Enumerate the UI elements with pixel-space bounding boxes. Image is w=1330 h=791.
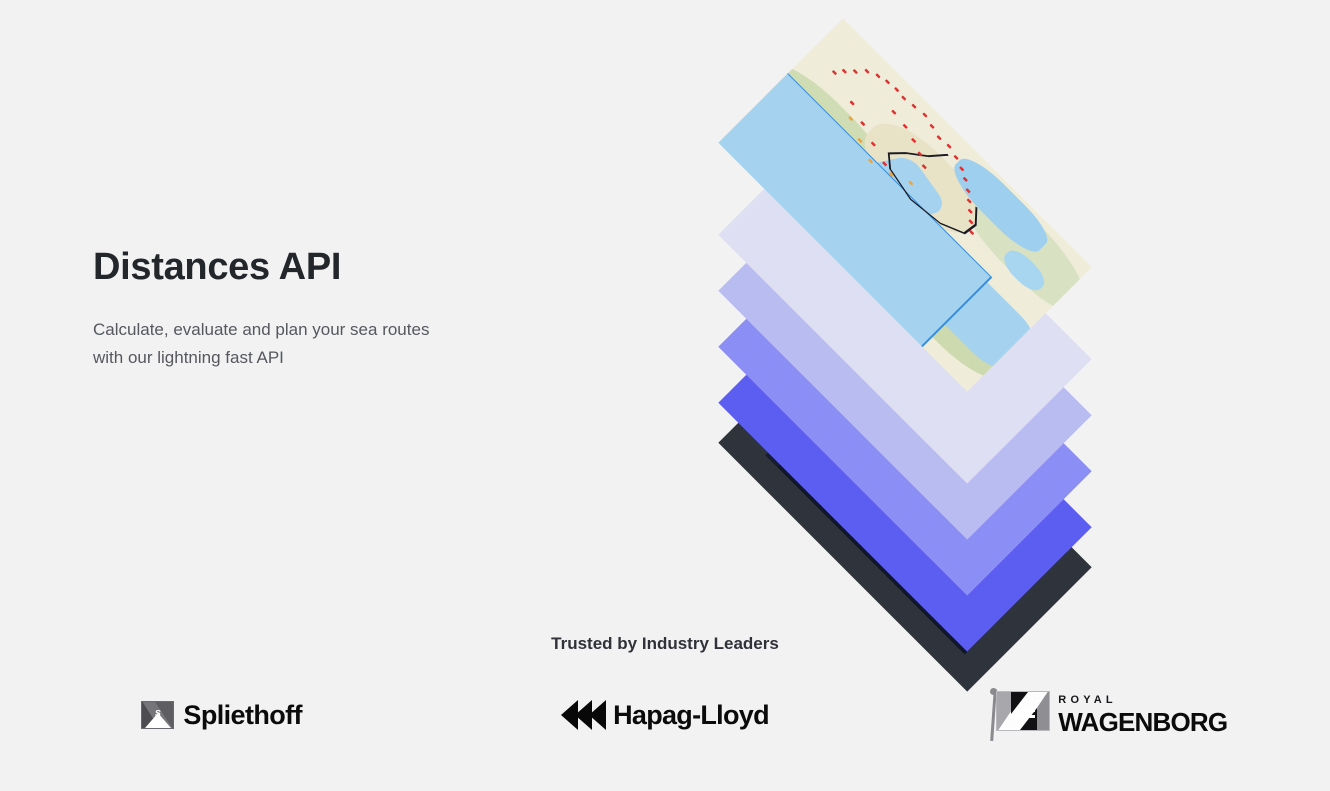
map-layer bbox=[655, 80, 1155, 330]
flag-cloth bbox=[996, 691, 1050, 731]
trusted-title: Trusted by Industry Leaders bbox=[0, 634, 1330, 654]
logo-spliethoff[interactable]: s Spliethoff bbox=[0, 675, 443, 755]
wagenborg-royal-text: ROYAL bbox=[1058, 695, 1227, 706]
wagenborg-wordmark: WAGENBORG bbox=[1058, 709, 1227, 735]
chevron-3 bbox=[589, 700, 606, 730]
isometric-layer-stack bbox=[655, 80, 1165, 570]
hero-copy: Distances API Calculate, evaluate and pl… bbox=[93, 246, 493, 372]
flag-stripe-a bbox=[1015, 709, 1035, 712]
wagenborg-flag-icon bbox=[989, 689, 1051, 741]
logo-hapag-lloyd[interactable]: Hapag-Lloyd bbox=[443, 675, 886, 755]
trusted-heading-wrap: Trusted by Industry Leaders bbox=[0, 634, 1330, 654]
hapag-chevron-icon bbox=[561, 700, 601, 730]
page-subtitle: Calculate, evaluate and plan your sea ro… bbox=[93, 316, 433, 372]
logo-row: s Spliethoff Hapag-Lloyd bbox=[0, 675, 1330, 755]
spliethoff-wordmark: Spliethoff bbox=[183, 700, 301, 731]
logo-royal-wagenborg[interactable]: ROYAL WAGENBORG bbox=[887, 675, 1330, 755]
hapag-wordmark: Hapag-Lloyd bbox=[613, 700, 769, 731]
flag-stripe-b bbox=[1015, 715, 1035, 718]
spliethoff-mountain-icon: s bbox=[141, 701, 174, 729]
page-title: Distances API bbox=[93, 246, 493, 290]
hero-section: Distances API Calculate, evaluate and pl… bbox=[0, 0, 1330, 600]
spliethoff-mark-letter: s bbox=[155, 707, 161, 719]
